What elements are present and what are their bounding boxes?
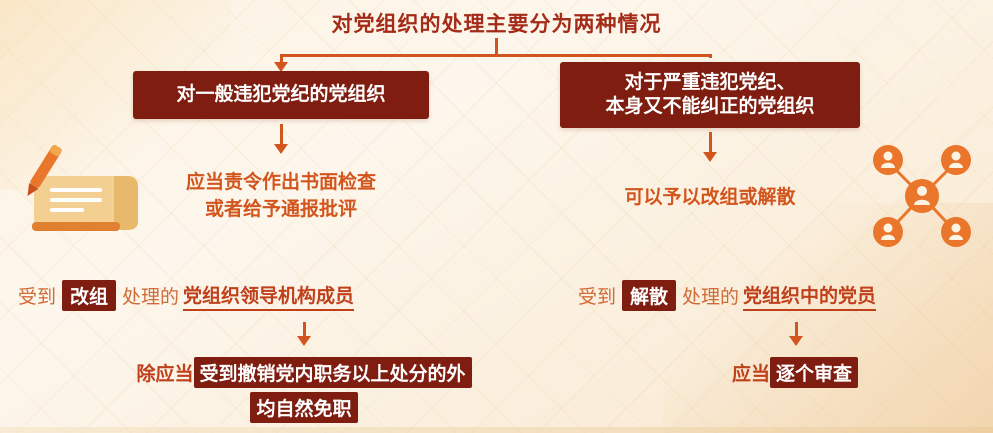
left-consequence-target: 党组织领导机构成员 bbox=[183, 281, 354, 311]
right-consequence-middle: 处理的 bbox=[682, 282, 739, 309]
left-branch-heading-text: 对一般违犯党纪的党组织 bbox=[176, 83, 385, 107]
right-outcome-arrow-icon bbox=[789, 336, 803, 346]
right-result-connector bbox=[709, 132, 712, 154]
right-result-arrow-icon bbox=[703, 152, 717, 162]
right-consequence-prefix: 受到 bbox=[578, 282, 616, 309]
people-network-icon bbox=[862, 140, 982, 252]
right-branch-drop bbox=[709, 54, 712, 58]
left-outcome-row: 除应当受到撤销党内职务以上处分的外 均自然免职 bbox=[104, 357, 504, 423]
right-result-text: 可以予以改组或解散 bbox=[560, 185, 860, 212]
left-consequence-row: 受到 改组 处理的 党组织领导机构成员 bbox=[18, 280, 354, 311]
page-title: 对党组织的处理主要分为两种情况 bbox=[0, 8, 993, 38]
left-result-line2: 或者给予通报批评 bbox=[116, 197, 446, 224]
left-consequence-chip: 改组 bbox=[62, 280, 116, 311]
right-outcome-row: 应当逐个审查 bbox=[650, 357, 940, 388]
right-consequence-row: 受到 解散 处理的 党组织中的党员 bbox=[578, 280, 876, 311]
infographic-canvas: 对党组织的处理主要分为两种情况 对一般违犯党纪的党组织 对于严重违犯党纪、 本身… bbox=[0, 0, 993, 433]
split-horizontal-connector bbox=[280, 54, 712, 57]
left-consequence-prefix: 受到 bbox=[18, 282, 56, 309]
right-outcome-lead: 应当 bbox=[732, 364, 770, 385]
right-branch-heading-box: 对于严重违犯党纪、 本身又不能纠正的党组织 bbox=[560, 62, 860, 128]
right-branch-heading-line1: 对于严重违犯党纪、 bbox=[605, 71, 814, 95]
right-branch-heading-line2: 本身又不能纠正的党组织 bbox=[605, 95, 814, 119]
right-consequence-target: 党组织中的党员 bbox=[743, 281, 876, 311]
left-consequence-middle: 处理的 bbox=[122, 282, 179, 309]
scroll-pen-icon bbox=[18, 142, 144, 242]
right-outcome-highlight-line1: 逐个审查 bbox=[770, 357, 858, 388]
left-result-arrow-icon bbox=[274, 144, 288, 154]
left-result-line1: 应当责令作出书面检查 bbox=[116, 170, 446, 197]
left-result-text: 应当责令作出书面检查 或者给予通报批评 bbox=[116, 170, 446, 224]
right-consequence-chip: 解散 bbox=[622, 280, 676, 311]
left-outcome-highlight-line2: 均自然免职 bbox=[250, 392, 357, 423]
bottom-band-decor bbox=[0, 427, 993, 433]
left-outcome-arrow-icon bbox=[297, 336, 311, 346]
left-outcome-highlight-line1: 受到撤销党内职务以上处分的外 bbox=[194, 357, 472, 388]
left-result-connector bbox=[280, 124, 283, 146]
left-outcome-lead: 除应当 bbox=[136, 364, 193, 385]
left-branch-heading-box: 对一般违犯党纪的党组织 bbox=[133, 71, 429, 119]
